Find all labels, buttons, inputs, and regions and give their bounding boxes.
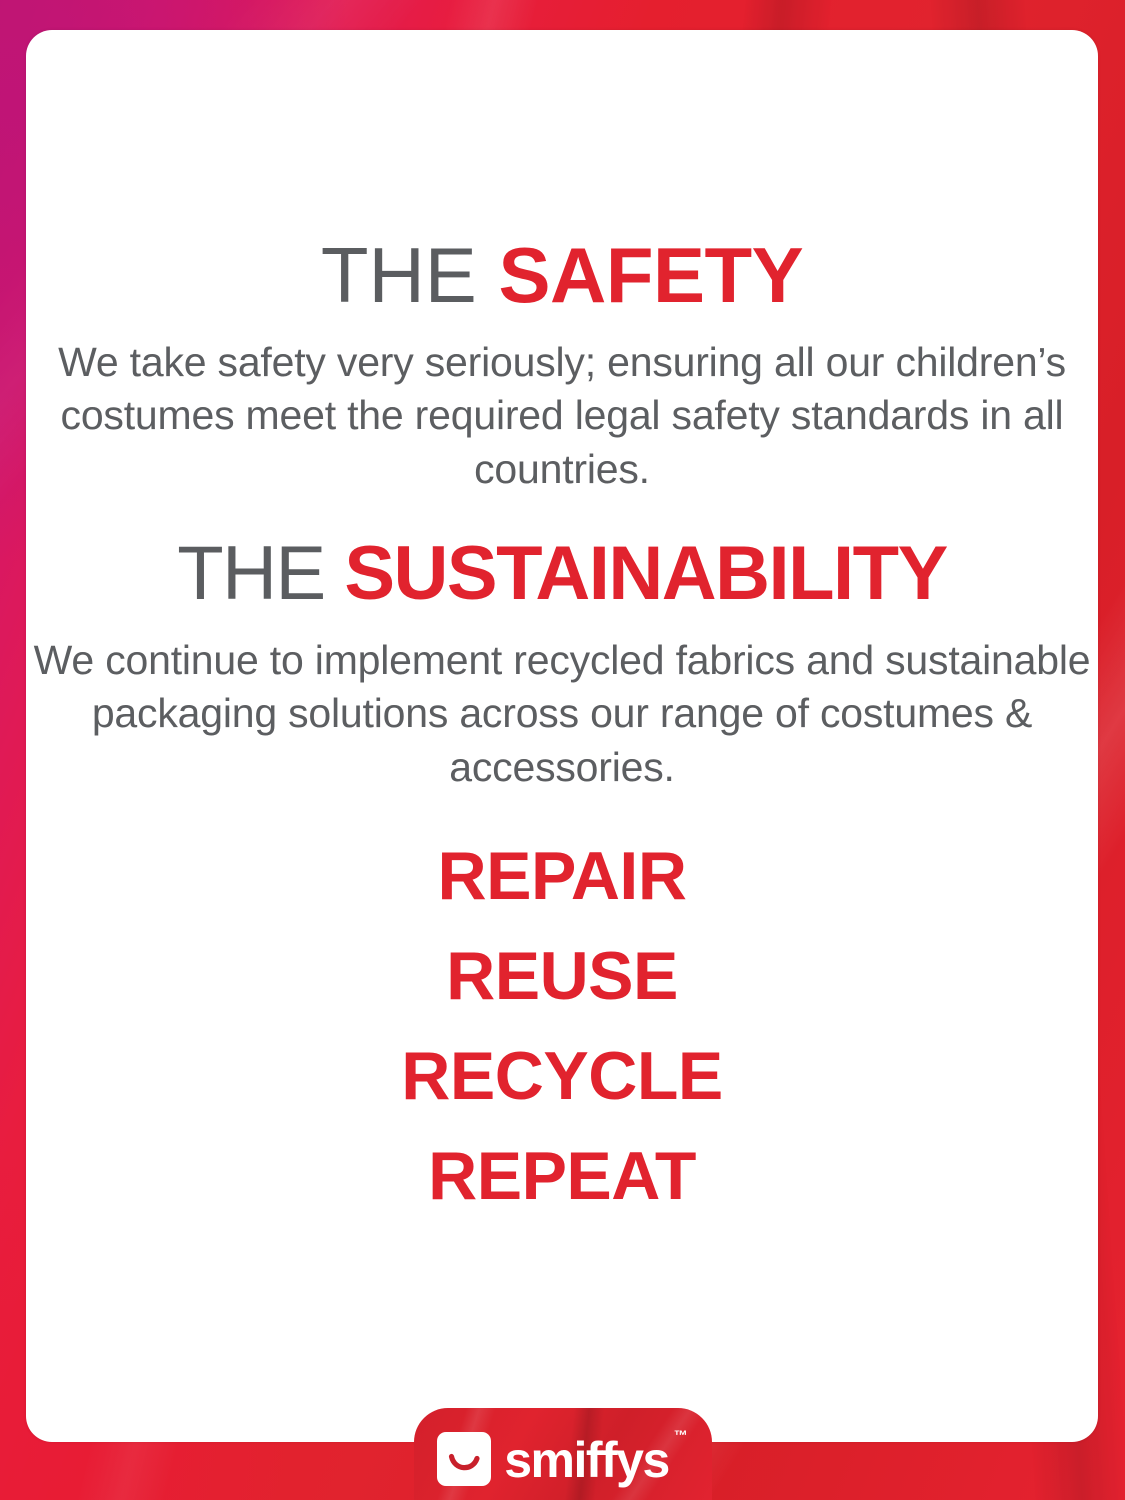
smiffys-logo: smiffys ™ <box>414 1408 712 1500</box>
section-sustainability-heading-prefix: THE <box>177 531 344 616</box>
section-sustainability-heading: THE SUSTAINABILITY <box>26 536 1098 612</box>
section-sustainability-body: We continue to implement recycled fabric… <box>26 634 1098 794</box>
section-safety: THE SAFETY We take safety very seriously… <box>26 236 1098 496</box>
section-safety-heading: THE SAFETY <box>26 236 1098 314</box>
rword-recycle: RECYCLE <box>26 1042 1098 1110</box>
section-sustainability: THE SUSTAINABILITY We continue to implem… <box>26 536 1098 794</box>
rwords-list: REPAIR REUSE RECYCLE REPEAT <box>26 842 1098 1210</box>
poster: THE SAFETY We take safety very seriously… <box>0 0 1125 1500</box>
rword-reuse: REUSE <box>26 942 1098 1010</box>
section-safety-body: We take safety very seriously; ensuring … <box>26 336 1098 496</box>
smiffys-wordmark: smiffys <box>504 1435 669 1485</box>
smile-icon <box>437 1432 491 1486</box>
section-sustainability-heading-accent: SUSTAINABILITY <box>344 531 946 616</box>
section-safety-heading-accent: SAFETY <box>498 231 803 319</box>
trademark-symbol: ™ <box>674 1428 688 1442</box>
section-safety-heading-prefix: THE <box>321 231 499 319</box>
rword-repeat: REPEAT <box>26 1142 1098 1210</box>
content-card: THE SAFETY We take safety very seriously… <box>26 30 1098 1442</box>
rword-repair: REPAIR <box>26 842 1098 910</box>
